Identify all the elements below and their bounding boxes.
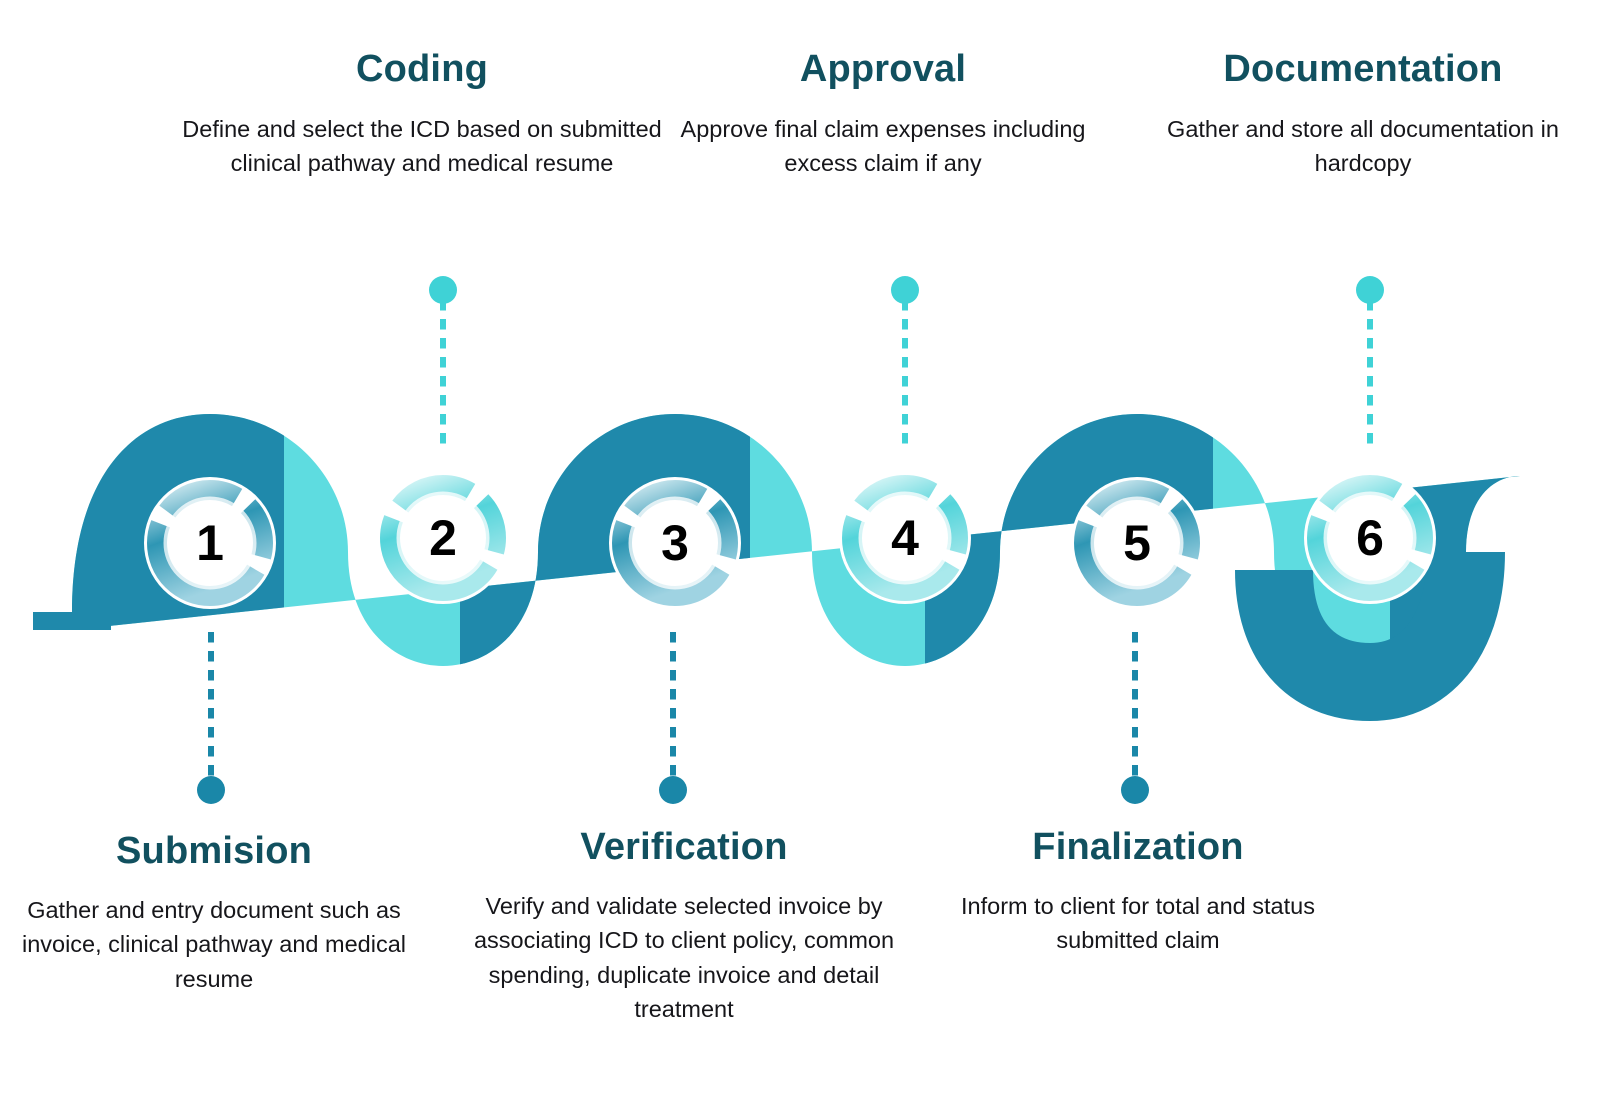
connector-knob (659, 776, 687, 804)
connector-knob (1121, 776, 1149, 804)
step-marker-5[interactable]: 5 (1069, 475, 1205, 611)
step-title: Approval (648, 50, 1118, 90)
connector-dashes (902, 300, 908, 446)
step-number: 4 (837, 470, 973, 606)
connector-knob (197, 776, 225, 804)
step-text-submision: Submision Gather and entry document such… (14, 832, 414, 996)
connector-step-4 (899, 276, 911, 446)
step-number: 2 (375, 470, 511, 606)
infographic-canvas: 1 2 3 (0, 0, 1600, 1120)
connector-dashes (670, 632, 676, 778)
step-number: 5 (1069, 475, 1205, 611)
step-marker-1[interactable]: 1 (142, 475, 278, 611)
connector-step-5 (1129, 632, 1141, 804)
step-marker-2[interactable]: 2 (375, 470, 511, 606)
connector-dashes (1367, 300, 1373, 446)
connector-step-3 (667, 632, 679, 804)
step-number: 1 (142, 475, 278, 611)
step-title: Coding (176, 50, 668, 90)
connector-dashes (440, 300, 446, 446)
connector-step-2 (437, 276, 449, 446)
step-title: Submision (14, 832, 414, 872)
step-description: Inform to client for total and status su… (936, 889, 1340, 958)
step-description: Approve final claim expenses including e… (648, 112, 1118, 181)
step-number: 3 (607, 475, 743, 611)
connector-step-1 (205, 632, 217, 804)
connector-step-6 (1364, 276, 1376, 446)
step-text-documentation: Documentation Gather and store all docum… (1128, 50, 1598, 181)
step-number: 6 (1302, 470, 1438, 606)
step-marker-4[interactable]: 4 (837, 470, 973, 606)
step-text-coding: Coding Define and select the ICD based o… (176, 50, 668, 181)
connector-dashes (1132, 632, 1138, 778)
step-title: Documentation (1128, 50, 1598, 90)
step-title: Finalization (936, 828, 1340, 868)
step-description: Gather and store all documentation in ha… (1128, 112, 1598, 181)
step-title: Verification (460, 828, 908, 868)
connector-dashes (208, 632, 214, 778)
step-marker-3[interactable]: 3 (607, 475, 743, 611)
step-text-approval: Approval Approve final claim expenses in… (648, 50, 1118, 181)
step-description: Define and select the ICD based on submi… (176, 112, 668, 181)
step-text-verification: Verification Verify and validate selecte… (460, 828, 908, 1027)
step-description: Verify and validate selected invoice by … (460, 889, 908, 1027)
step-description: Gather and entry document such as invoic… (14, 893, 414, 997)
step-text-finalization: Finalization Inform to client for total … (936, 828, 1340, 958)
step-marker-6[interactable]: 6 (1302, 470, 1438, 606)
